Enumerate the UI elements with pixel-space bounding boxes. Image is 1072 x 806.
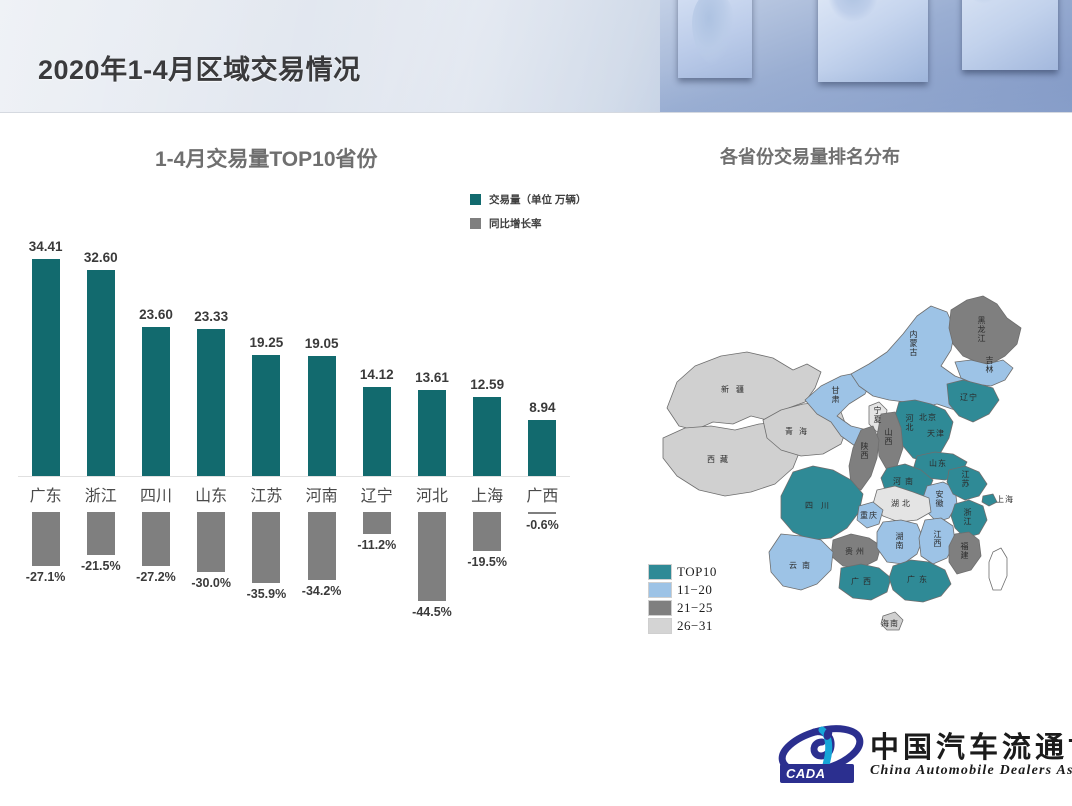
logo-english-name: China Automobile Dealers Association [870, 763, 1072, 779]
positive-bar-wrap: 23.60 [128, 240, 183, 476]
map-legend-label-top10: TOP10 [677, 564, 717, 580]
cada-logo: CADA 中国汽车流通协会 China Automobile Dealers A… [778, 722, 1068, 788]
negative-bar-wrap: -27.1% [18, 512, 73, 620]
growth-bar[interactable] [418, 512, 446, 601]
volume-value-label: 23.33 [194, 309, 228, 324]
volume-bar[interactable] [418, 390, 446, 476]
map-label-gansu: 甘肃 [831, 386, 839, 404]
negative-bar-wrap: -0.6% [515, 512, 570, 620]
positive-bar-wrap: 34.41 [18, 240, 73, 476]
volume-bar[interactable] [87, 270, 115, 476]
negative-bar-wrap: -11.2% [349, 512, 404, 620]
negative-bar-wrap: -27.2% [128, 512, 183, 620]
map-title: 各省份交易量排名分布 [720, 143, 900, 169]
map-legend-swatch-top10 [648, 564, 672, 580]
category-label: 河北 [404, 482, 459, 506]
category-label: 四川 [128, 482, 183, 506]
negative-bar-wrap: -30.0% [184, 512, 239, 620]
slide-header-banner: 2020年1-4月区域交易情况 [0, 0, 1072, 112]
volume-bar[interactable] [308, 356, 336, 476]
bar-group: 23.33山东-30.0% [184, 240, 239, 620]
volume-value-label: 23.60 [139, 307, 173, 322]
map-label-tianjin: 天津 [927, 430, 945, 438]
map-label-shanxi: 山西 [884, 428, 892, 446]
map-label-shandong: 山东 [929, 460, 947, 468]
map-label-hubei: 湖北 [891, 500, 913, 508]
map-legend-label-21-25: 21−25 [677, 600, 713, 616]
map-label-guangxi: 广西 [851, 578, 875, 586]
map-legend-swatch-11-20 [648, 582, 672, 598]
legend-swatch-growth [470, 218, 481, 229]
volume-value-label: 34.41 [29, 239, 63, 254]
map-legend-label-11-20: 11−20 [677, 582, 712, 598]
map-label-guizhou: 贵州 [845, 548, 867, 556]
bar-group: 8.94广西-0.6% [515, 240, 570, 620]
bar-group: 32.60浙江-21.5% [73, 240, 128, 620]
volume-bar[interactable] [252, 355, 280, 476]
growth-bar[interactable] [142, 512, 170, 566]
positive-bar-wrap: 14.12 [349, 240, 404, 476]
map-label-shanghai: 上海 [996, 496, 1014, 504]
growth-value-label: -30.0% [191, 576, 231, 590]
map-label-liaoning: 辽宁 [960, 394, 978, 402]
volume-bar[interactable] [528, 420, 556, 476]
category-label: 广东 [18, 482, 73, 506]
map-legend-item-top10: TOP10 [648, 564, 717, 580]
category-label: 广西 [515, 482, 570, 506]
legend-label-volume: 交易量（单位 万辆） [489, 192, 586, 207]
map-label-ningxia: 宁夏 [873, 406, 881, 424]
map-label-fujian: 福建 [960, 542, 968, 560]
category-label: 河南 [294, 482, 349, 506]
bar-chart-title: 1-4月交易量TOP10省份 [155, 143, 378, 173]
growth-value-label: -34.2% [302, 584, 342, 598]
map-label-shaanxi: 陕西 [860, 442, 868, 460]
header-decorative-image [660, 0, 1072, 112]
growth-bar[interactable] [308, 512, 336, 580]
volume-value-label: 14.12 [360, 367, 394, 382]
legend-item-volume: 交易量（单位 万辆） [470, 192, 586, 207]
bar-group: 19.25江苏-35.9% [239, 240, 294, 620]
map-label-heilongjiang: 黑龙江 [977, 316, 985, 343]
positive-bar-wrap: 32.60 [73, 240, 128, 476]
bar-group: 13.61河北-44.5% [404, 240, 459, 620]
legend-label-growth: 同比增长率 [489, 216, 542, 231]
map-legend-item-11-20: 11−20 [648, 582, 717, 598]
province-shape-taiwan [989, 548, 1007, 590]
volume-value-label: 8.94 [529, 400, 555, 415]
positive-bar-wrap: 12.59 [460, 240, 515, 476]
growth-bar[interactable] [87, 512, 115, 555]
volume-bar[interactable] [473, 397, 501, 476]
volume-bar[interactable] [142, 327, 170, 476]
growth-value-label: -44.5% [412, 605, 452, 619]
category-label: 山东 [184, 482, 239, 506]
globe-texture-icon [968, 0, 1002, 4]
map-label-sichuan: 四川 [805, 502, 837, 510]
category-label: 辽宁 [349, 482, 404, 506]
map-label-tibet: 西藏 [707, 456, 733, 464]
negative-bar-wrap: -35.9% [239, 512, 294, 620]
map-label-jiangxi: 江西 [933, 530, 941, 548]
negative-bar-wrap: -21.5% [73, 512, 128, 620]
growth-bar[interactable] [363, 512, 391, 534]
globe-texture-icon [692, 0, 734, 66]
growth-value-label: -0.6% [526, 518, 559, 532]
category-label: 上海 [460, 482, 515, 506]
volume-value-label: 19.25 [249, 335, 283, 350]
header-divider [0, 112, 1072, 113]
positive-bar-wrap: 19.05 [294, 240, 349, 476]
legend-item-growth: 同比增长率 [470, 216, 586, 231]
header-floor-sheen [660, 70, 1072, 112]
volume-value-label: 13.61 [415, 370, 449, 385]
map-label-henan: 河南 [893, 478, 917, 486]
volume-bar[interactable] [363, 387, 391, 476]
map-label-hunan: 湖南 [895, 532, 903, 550]
map-label-hainan: 海南 [881, 620, 899, 628]
legend-swatch-volume [470, 194, 481, 205]
positive-bar-wrap: 23.33 [184, 240, 239, 476]
growth-bar[interactable] [528, 512, 556, 514]
growth-bar[interactable] [32, 512, 60, 566]
negative-bar-wrap: -19.5% [460, 512, 515, 620]
bar-group: 34.41广东-27.1% [18, 240, 73, 620]
growth-bar[interactable] [473, 512, 501, 551]
map-legend-item-26-31: 26−31 [648, 618, 717, 634]
cube-graphic-3 [962, 0, 1058, 70]
volume-value-label: 32.60 [84, 250, 118, 265]
volume-bar[interactable] [32, 259, 60, 476]
growth-value-label: -35.9% [247, 587, 287, 601]
growth-bar[interactable] [197, 512, 225, 572]
province-shape-shanghai[interactable] [982, 494, 997, 506]
bar-group: 12.59上海-19.5% [460, 240, 515, 620]
growth-bar[interactable] [252, 512, 280, 583]
volume-bar[interactable] [197, 329, 225, 476]
bar-chart-legend: 交易量（单位 万辆） 同比增长率 [470, 192, 586, 240]
bar-group: 23.60四川-27.2% [128, 240, 183, 620]
map-label-jilin: 吉林 [985, 356, 993, 374]
map-label-yunnan: 云南 [789, 562, 815, 570]
negative-bar-wrap: -44.5% [404, 512, 459, 620]
category-label: 浙江 [73, 482, 128, 506]
cube-graphic-1 [678, 0, 752, 78]
bar-group: 19.05河南-34.2% [294, 240, 349, 620]
volume-value-label: 12.59 [470, 377, 504, 392]
map-label-qinghai: 青海 [785, 428, 813, 436]
bar-chart-plot-area: 34.41广东-27.1%32.60浙江-21.5%23.60四川-27.2%2… [18, 240, 570, 620]
positive-bar-wrap: 19.25 [239, 240, 294, 476]
negative-bar-wrap: -34.2% [294, 512, 349, 620]
map-label-hebei: 河北 [905, 414, 913, 432]
positive-bar-wrap: 8.94 [515, 240, 570, 476]
cada-abbr-text: CADA [786, 766, 826, 781]
category-label: 江苏 [239, 482, 294, 506]
map-legend: TOP10 11−20 21−25 26−31 [648, 564, 717, 636]
bar-group: 14.12辽宁-11.2% [349, 240, 404, 620]
map-label-anhui: 安徽 [935, 490, 943, 508]
positive-bar-wrap: 13.61 [404, 240, 459, 476]
map-label-zhejiang: 浙江 [963, 508, 971, 526]
map-label-xinjiang: 新疆 [721, 386, 751, 394]
map-legend-swatch-21-25 [648, 600, 672, 616]
volume-value-label: 19.05 [305, 336, 339, 351]
globe-texture-icon [828, 0, 878, 22]
growth-value-label: -21.5% [81, 559, 121, 573]
growth-value-label: -27.2% [136, 570, 176, 584]
map-legend-label-26-31: 26−31 [677, 618, 713, 634]
logo-chinese-name: 中国汽车流通协会 [870, 724, 1072, 766]
map-label-beijing: 北京 [919, 414, 937, 422]
map-label-jiangsu: 江苏 [961, 470, 969, 488]
growth-value-label: -11.2% [357, 538, 396, 552]
map-label-chongqing: 重庆 [860, 512, 878, 520]
map-legend-item-21-25: 21−25 [648, 600, 717, 616]
map-label-inner-mongolia: 内蒙古 [909, 330, 917, 357]
map-label-guangdong: 广东 [907, 576, 931, 584]
growth-value-label: -27.1% [26, 570, 66, 584]
growth-value-label: -19.5% [467, 555, 507, 569]
map-legend-swatch-26-31 [648, 618, 672, 634]
page-title: 2020年1-4月区域交易情况 [38, 48, 361, 87]
